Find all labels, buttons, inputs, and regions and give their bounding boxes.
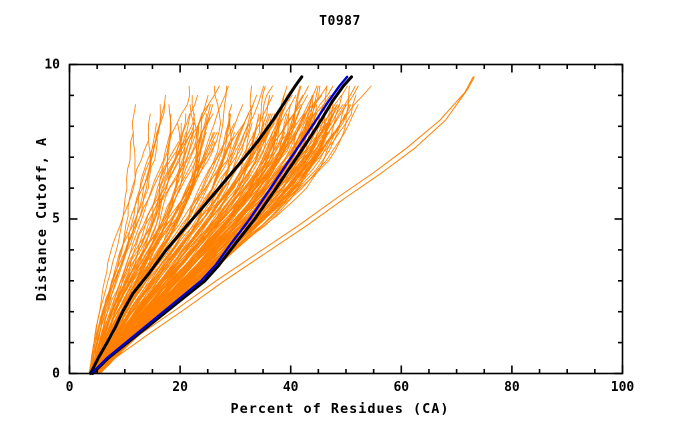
x-tick-label: 40 <box>283 380 299 395</box>
plot-canvas <box>0 0 680 440</box>
x-tick-label: 0 <box>66 380 74 395</box>
y-tick-label: 5 <box>38 212 60 227</box>
chart-figure: T0987 Percent of Residues (CA) Distance … <box>0 0 680 440</box>
curve-layer <box>89 77 474 374</box>
y-tick-label: 10 <box>38 57 60 72</box>
x-tick-label: 60 <box>393 380 409 395</box>
x-axis-label: Percent of Residues (CA) <box>0 401 680 417</box>
x-tick-label: 100 <box>611 380 634 395</box>
x-tick-label: 20 <box>172 380 188 395</box>
y-tick-label: 0 <box>38 366 60 381</box>
x-tick-label: 80 <box>504 380 520 395</box>
